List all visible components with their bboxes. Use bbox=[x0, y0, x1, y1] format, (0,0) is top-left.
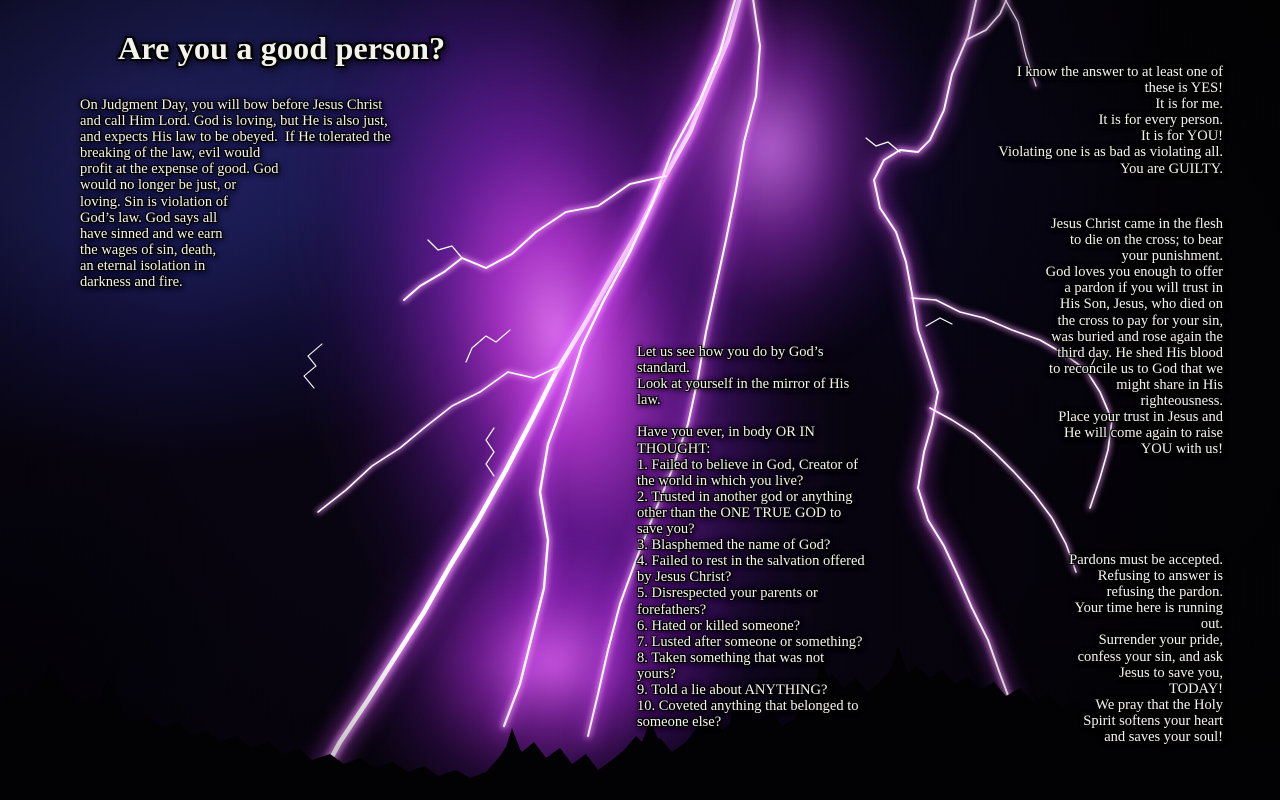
gospel-message-block: Jesus Christ came in the flesh to die on… bbox=[957, 216, 1223, 457]
intro-paragraph: On Judgment Day, you will bow before Jes… bbox=[80, 97, 452, 290]
ten-commandments-checklist: Let us see how you do by God’s standard.… bbox=[637, 344, 913, 730]
closing-appeal-block: Pardons must be accepted. Refusing to an… bbox=[957, 552, 1223, 745]
guilt-verdict-block: I know the answer to at least one of the… bbox=[957, 64, 1223, 177]
poster-canvas: Are you a good person? On Judgment Day, … bbox=[0, 0, 1280, 800]
page-title: Are you a good person? bbox=[118, 30, 445, 67]
